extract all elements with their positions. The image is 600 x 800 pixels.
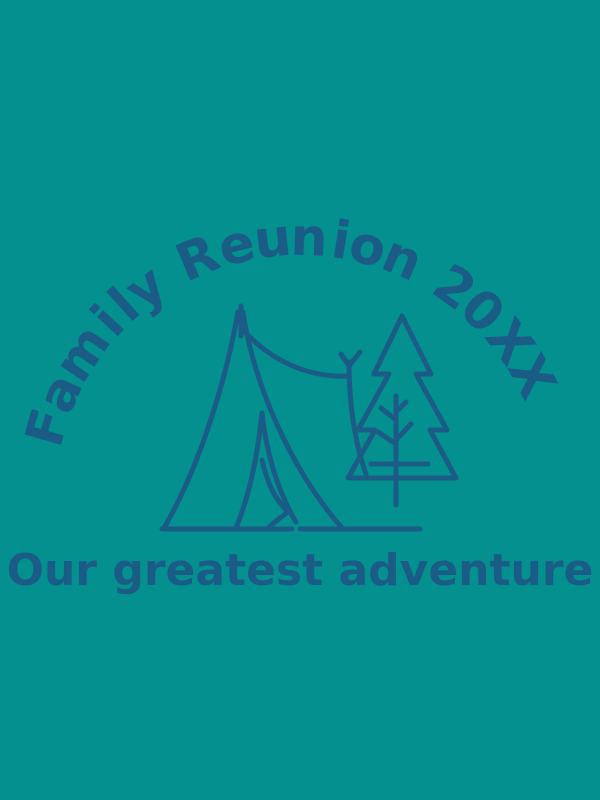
arc-title-letter: u [251,208,294,272]
shirt-design-canvas: FamilyReunion20XX [0,0,600,800]
design-artboard: FamilyReunion20XX [0,0,600,800]
tagline: Our greatest adventure [7,545,594,596]
arc-title-letter: n [290,208,329,269]
